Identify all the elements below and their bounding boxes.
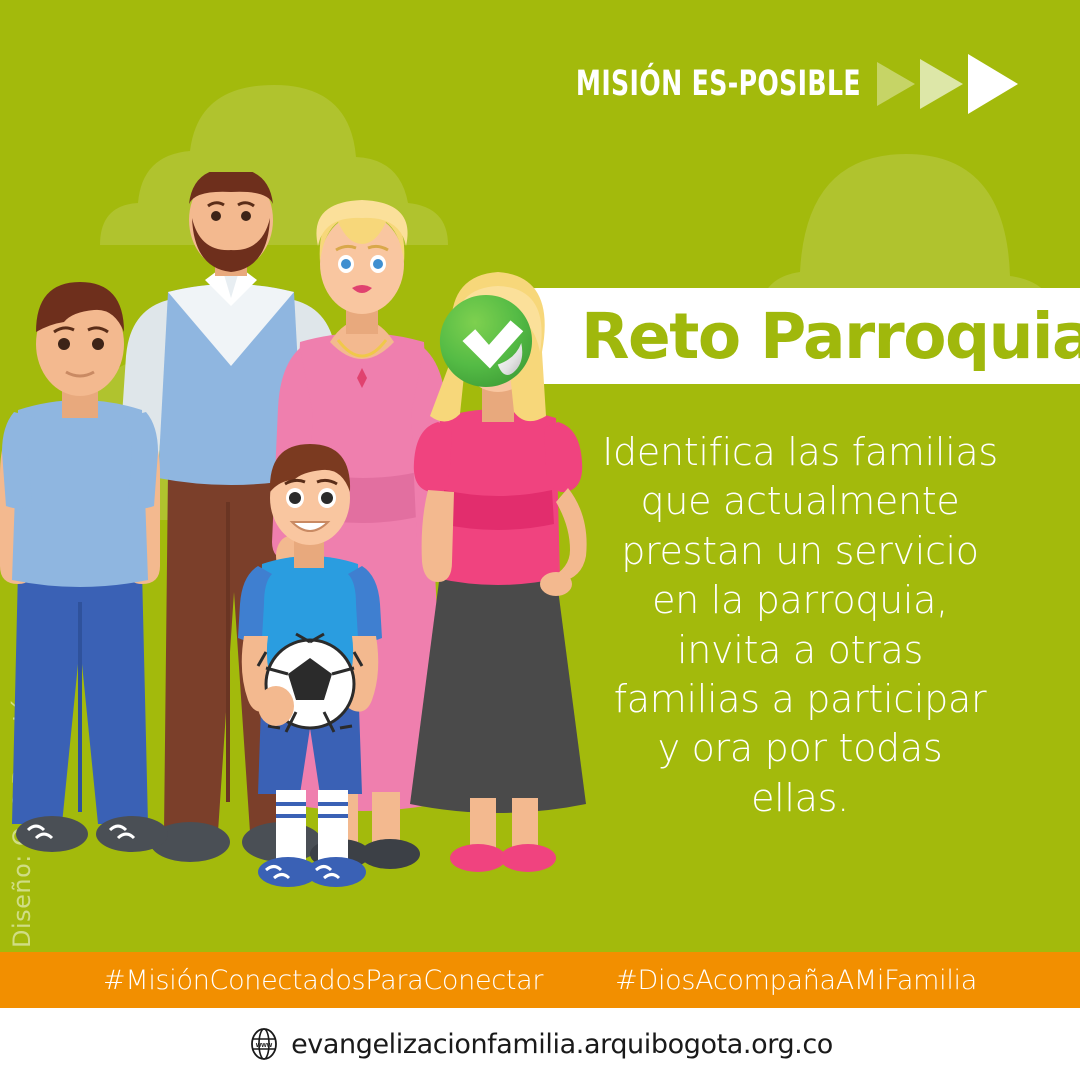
header-arrows — [877, 54, 1018, 114]
family-illustration — [0, 172, 640, 952]
arrow-3-icon — [968, 54, 1018, 114]
website-url[interactable]: evangelizacionfamilia.arquibogota.org.co — [291, 1029, 833, 1060]
body-line: y ora por todas — [578, 724, 1022, 773]
body-line: familias a participar — [578, 675, 1022, 724]
poster-root: MISIÓN ES-POSIBLE — [0, 0, 1080, 1080]
arrow-2-icon — [920, 59, 963, 109]
hashtag-band: #MisiónConectadosParaConectar #DiosAcomp… — [0, 952, 1080, 1008]
body-line: prestan un servicio — [578, 527, 1022, 576]
body-line: ellas. — [578, 774, 1022, 823]
hashtag-1[interactable]: #MisiónConectadosParaConectar — [103, 965, 543, 996]
header-title: MISIÓN ES-POSIBLE — [576, 64, 861, 104]
globe-www-icon: www — [247, 1027, 281, 1061]
arrow-1-icon — [877, 62, 915, 106]
website-band: www evangelizacionfamilia.arquibogota.or… — [0, 1008, 1080, 1080]
body-line: invita a otras — [578, 626, 1022, 675]
svg-text:www: www — [255, 1042, 273, 1049]
body-line: en la parroquia, — [578, 576, 1022, 625]
body-line: que actualmente — [578, 477, 1022, 526]
hashtag-2[interactable]: #DiosAcompañaAMiFamilia — [615, 965, 977, 996]
page-title: Reto Parroquial — [581, 305, 1080, 368]
header: MISIÓN ES-POSIBLE — [0, 54, 1080, 114]
body-copy: Identifica las familias que actualmente … — [578, 428, 1022, 823]
check-circle-sticker-icon — [437, 292, 535, 390]
body-line: Identifica las familias — [578, 428, 1022, 477]
title-row: Reto Parroquial — [437, 288, 1080, 384]
